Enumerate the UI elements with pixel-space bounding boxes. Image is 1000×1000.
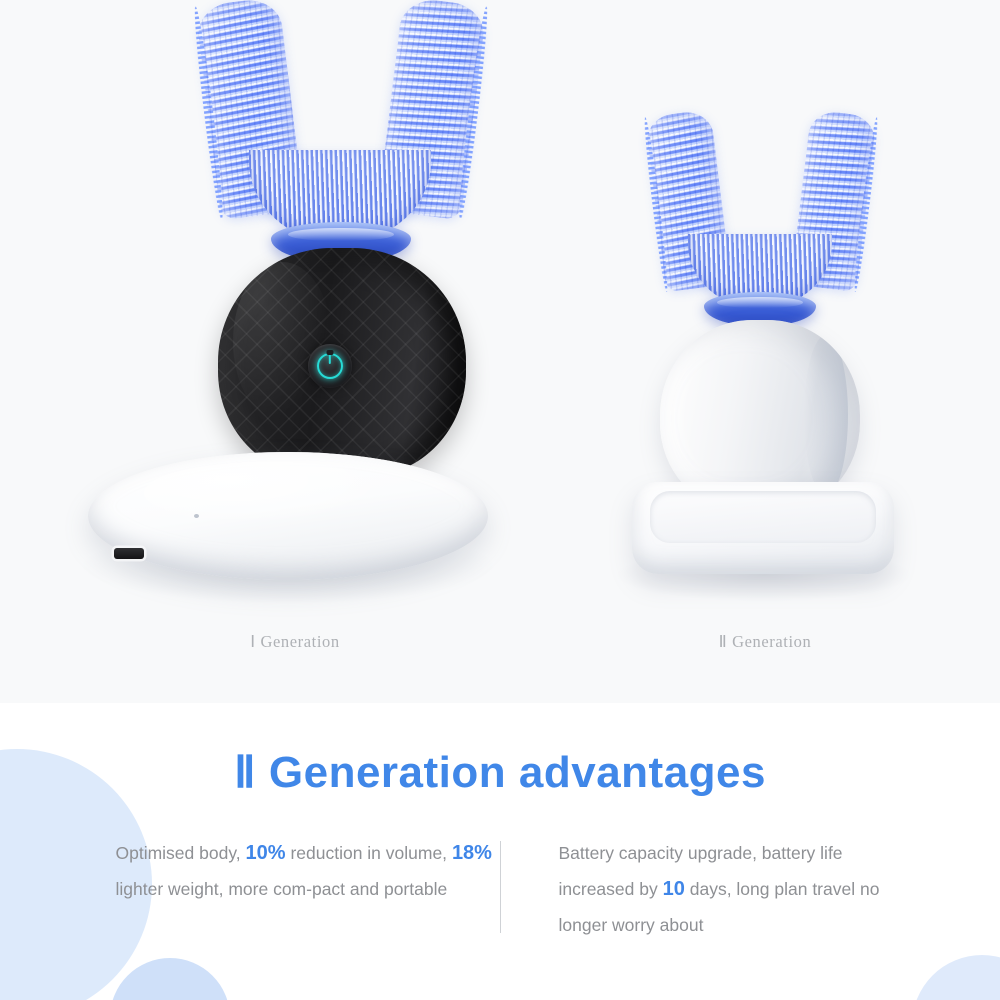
micro-usb-port (114, 548, 144, 559)
handle-edge-shading (804, 335, 848, 495)
advantage-text-left: Optimised body, 10% reduction in volume,… (108, 835, 500, 907)
generation-two-caption: Ⅱ Generation (625, 632, 905, 652)
handle-highlight (233, 262, 332, 422)
product-marketing-page: Ⅰ Generation (0, 0, 1000, 1000)
mouthpiece-gen-two (662, 112, 858, 334)
left-highlight-volume: 10% (246, 842, 286, 864)
power-button[interactable] (308, 344, 352, 388)
right-highlight-days: 10 (663, 878, 685, 900)
section-headline: Ⅱ Generation advantages (0, 747, 1000, 798)
advantage-columns: Optimised body, 10% reduction in volume,… (0, 835, 1000, 943)
charging-base-gen-two (632, 482, 894, 574)
left-text-part3: lighter weight, more com-pact and portab… (116, 879, 448, 899)
bristle-strip-left (191, 6, 226, 220)
base-cradle-recess (650, 491, 875, 543)
led-indicator (194, 514, 199, 518)
decorative-circle-small (110, 958, 230, 1000)
bristle-strip-right (456, 6, 491, 220)
bristle-strip-left (642, 117, 670, 293)
left-highlight-weight: 18% (452, 842, 492, 864)
left-text-part1: Optimised body, (116, 843, 241, 863)
power-icon (317, 353, 343, 379)
advantage-text-right: Battery capacity upgrade, battery life i… (501, 835, 893, 943)
bristle-strip-right (852, 117, 880, 293)
generation-one-product: Ⅰ Generation (60, 0, 520, 620)
product-showcase-section: Ⅰ Generation (0, 0, 1000, 703)
advantages-section: Ⅱ Generation advantages Optimised body, … (0, 703, 1000, 1000)
decorative-circle-right (912, 955, 1000, 1000)
left-text-part2: reduction in volume, (290, 843, 447, 863)
charging-base-gen-one (88, 452, 488, 580)
mouthpiece-gen-one (215, 0, 465, 270)
generation-two-product: Ⅱ Generation (600, 0, 970, 620)
generation-one-caption: Ⅰ Generation (155, 632, 435, 652)
